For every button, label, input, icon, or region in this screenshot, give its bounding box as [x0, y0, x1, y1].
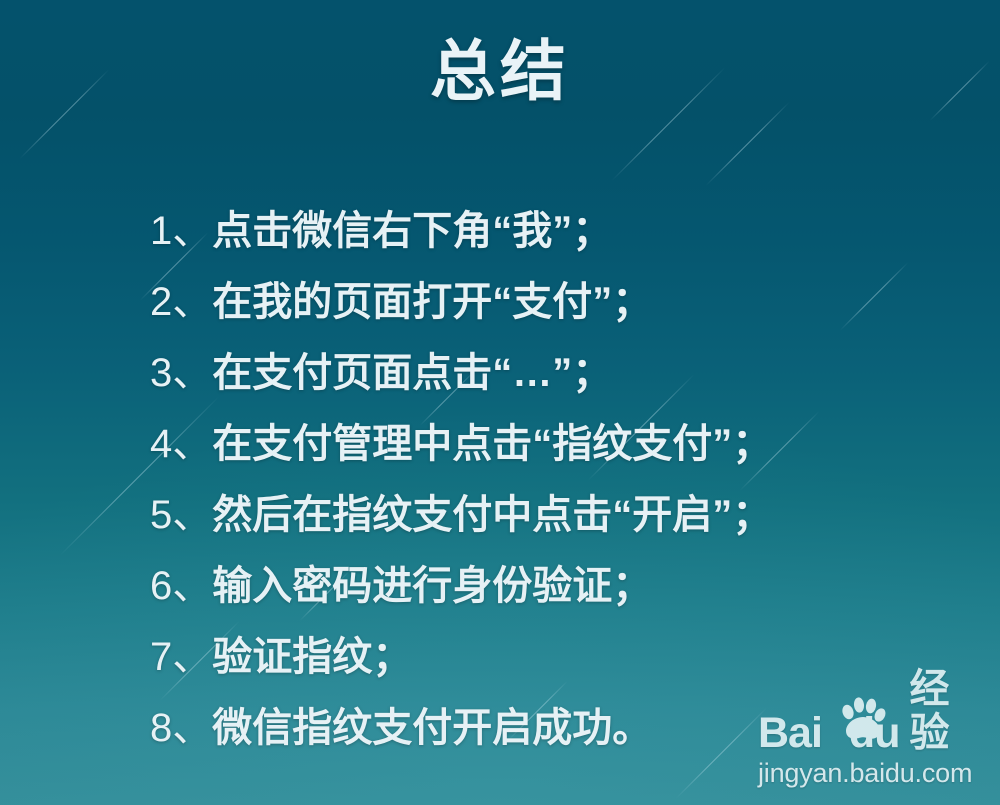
presentation-slide: 总结 1、点击微信右下角“我”； 2、在我的页面打开“支付”； 3、在支付页面点…	[0, 0, 1000, 805]
paw-print-icon	[840, 697, 886, 741]
baidu-logo-bai: Bai	[758, 711, 822, 755]
baidu-watermark-url: jingyan.baidu.com	[752, 757, 988, 789]
list-item-number: 7、	[150, 635, 212, 679]
list-item-number: 6、	[150, 564, 212, 608]
list-item: 7、验证指纹；	[150, 622, 950, 693]
list-item: 5、然后在指纹支付中点击“开启”；	[150, 480, 950, 551]
streak-line	[706, 102, 790, 186]
baidu-watermark: Bai du 经验 jingyan.baidu.com	[752, 701, 988, 793]
list-item-text: 输入密码进行身份验证；	[212, 564, 652, 608]
list-item-text: 点击微信右下角“我”；	[212, 209, 612, 253]
list-item-text: 在我的页面打开“支付”；	[212, 280, 652, 324]
list-item-text: 验证指纹；	[212, 635, 412, 679]
baidu-logo-suffix: 经验	[909, 667, 988, 755]
list-item: 2、在我的页面打开“支付”；	[150, 267, 950, 338]
list-item: 4、在支付管理中点击“指纹支付”；	[150, 409, 950, 480]
list-item-text: 在支付管理中点击“指纹支付”；	[212, 422, 772, 466]
list-item-number: 8、	[150, 706, 212, 750]
steps-list: 1、点击微信右下角“我”； 2、在我的页面打开“支付”； 3、在支付页面点击“……	[150, 196, 950, 764]
list-item: 1、点击微信右下角“我”；	[150, 196, 950, 267]
baidu-logo: Bai du 经验	[752, 701, 988, 755]
list-item-number: 3、	[150, 351, 212, 395]
list-item-text: 然后在指纹支付中点击“开启”；	[212, 493, 772, 537]
list-item-number: 5、	[150, 493, 212, 537]
list-item: 6、输入密码进行身份验证；	[150, 551, 950, 622]
page-title: 总结	[0, 38, 1000, 104]
list-item-text: 在支付页面点击“…”；	[212, 351, 612, 395]
list-item: 3、在支付页面点击“…”；	[150, 338, 950, 409]
list-item-number: 4、	[150, 422, 212, 466]
list-item-text: 微信指纹支付开启成功。	[212, 706, 652, 750]
list-item-number: 2、	[150, 280, 212, 324]
list-item-number: 1、	[150, 209, 212, 253]
